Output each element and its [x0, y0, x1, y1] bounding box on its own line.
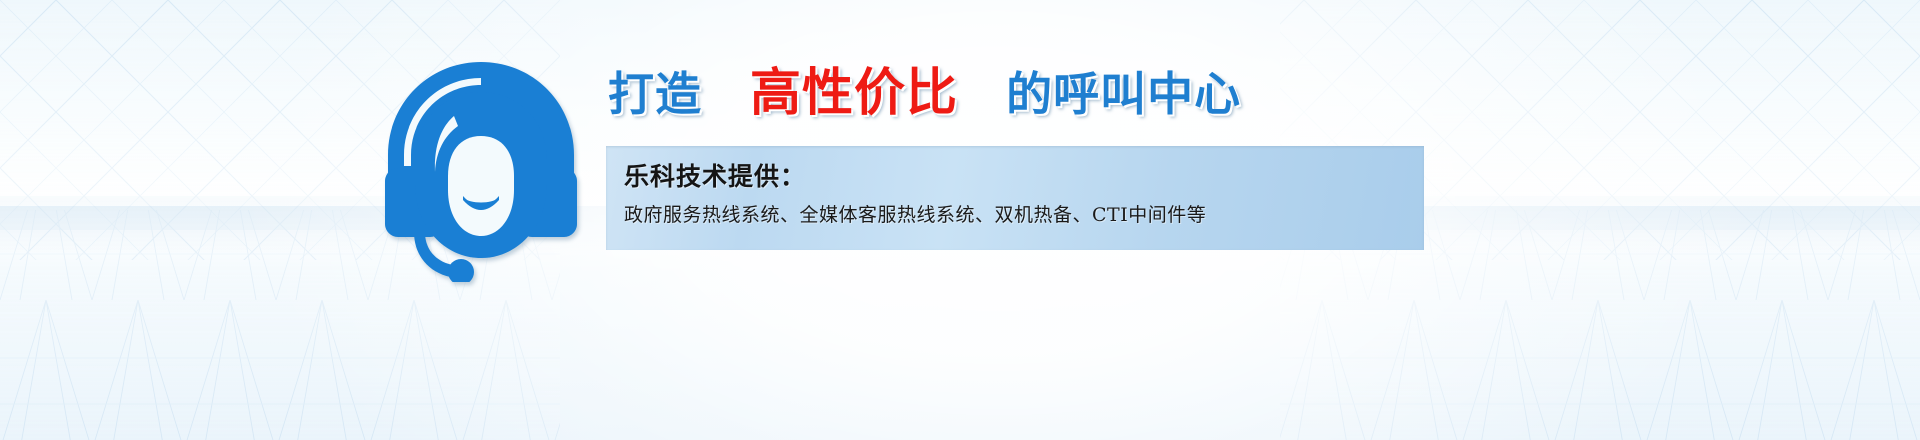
info-box-title: 乐科技术提供：	[624, 160, 1424, 194]
headline-highlight: 高性价比	[750, 64, 958, 123]
headline-part-2: 的呼叫中心	[1006, 67, 1241, 121]
promo-banner: 打造 高性价比 的呼叫中心 乐科技术提供： 政府服务热线系统、全媒体客服热线系统…	[0, 0, 1920, 440]
info-box-description: 政府服务热线系统、全媒体客服热线系统、双机热备、CTI中间件等	[624, 201, 1424, 229]
headline-part-1: 打造	[608, 67, 702, 121]
headline: 打造 高性价比 的呼叫中心	[608, 68, 1241, 120]
info-box: 乐科技术提供： 政府服务热线系统、全媒体客服热线系统、双机热备、CTI中间件等	[606, 146, 1424, 250]
headset-operator-icon	[368, 56, 594, 282]
